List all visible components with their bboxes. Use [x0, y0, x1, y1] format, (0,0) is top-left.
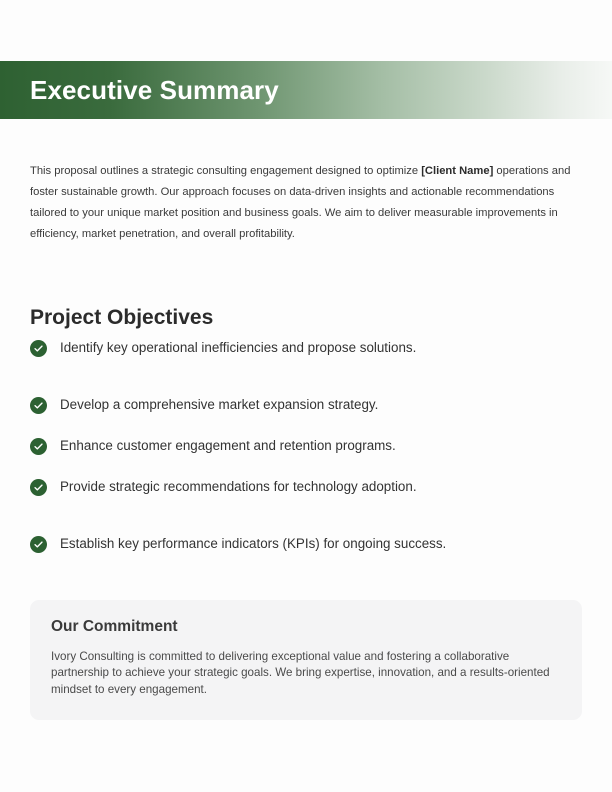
check-circle-icon [30, 479, 47, 496]
section-heading-project-objectives: Project Objectives [30, 305, 213, 330]
list-item-label: Provide strategic recommendations for te… [60, 477, 417, 497]
list-item: Identify key operational inefficiencies … [30, 338, 582, 358]
list-item-label: Develop a comprehensive market expansion… [60, 395, 378, 415]
list-item: Develop a comprehensive market expansion… [30, 395, 582, 415]
list-item: Provide strategic recommendations for te… [30, 477, 582, 497]
intro-text-before: This proposal outlines a strategic consu… [30, 165, 421, 177]
commitment-callout: Our Commitment Ivory Consulting is commi… [30, 600, 582, 720]
objectives-list: Identify key operational inefficiencies … [30, 338, 582, 554]
list-item-label: Enhance customer engagement and retentio… [60, 436, 396, 456]
list-item-label: Establish key performance indicators (KP… [60, 534, 446, 554]
commitment-title: Our Commitment [51, 618, 560, 637]
list-item: Enhance customer engagement and retentio… [30, 436, 582, 456]
check-circle-icon [30, 397, 47, 414]
client-name-placeholder: [Client Name] [421, 165, 493, 177]
commitment-body: Ivory Consulting is committed to deliver… [51, 649, 551, 699]
section-header-band: Executive Summary [0, 61, 612, 119]
document-page: Executive Summary This proposal outlines… [0, 0, 612, 792]
check-circle-icon [30, 340, 47, 357]
check-circle-icon [30, 536, 47, 553]
list-item-label: Identify key operational inefficiencies … [60, 338, 416, 358]
intro-paragraph: This proposal outlines a strategic consu… [30, 161, 578, 245]
list-item: Establish key performance indicators (KP… [30, 534, 582, 554]
check-circle-icon [30, 438, 47, 455]
page-title: Executive Summary [30, 77, 279, 103]
